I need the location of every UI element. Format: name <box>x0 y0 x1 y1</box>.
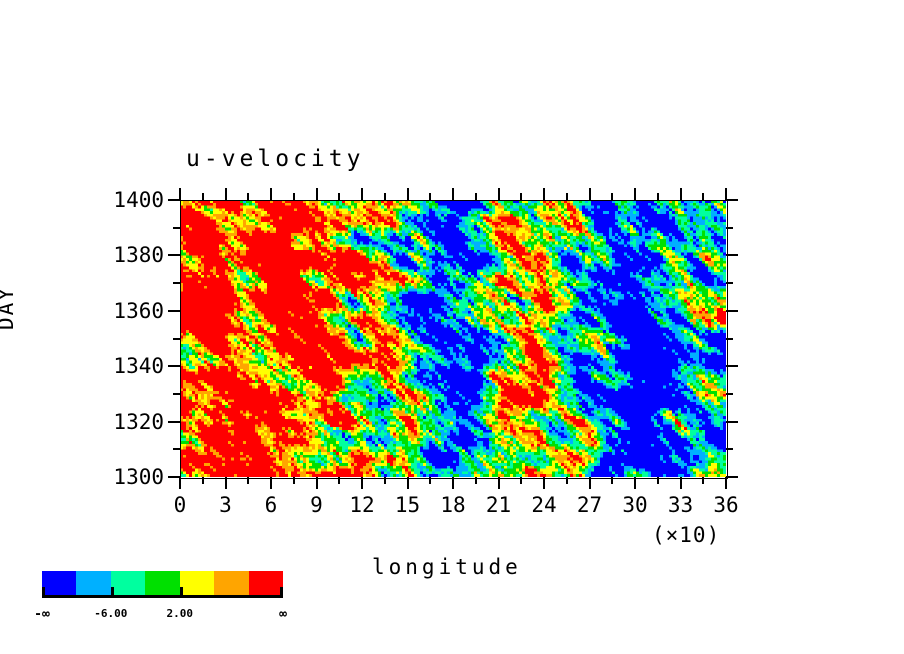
plot-title: u-velocity <box>186 146 364 172</box>
y-tick-major-right <box>726 199 738 201</box>
x-tick-minor-bottom <box>338 477 340 484</box>
x-tick-minor-bottom <box>202 477 204 484</box>
y-tick-label: 1340 <box>96 354 164 378</box>
x-tick-major-top <box>316 188 318 200</box>
x-tick-major-bottom <box>270 477 272 489</box>
colorbar <box>42 571 283 595</box>
y-tick-minor-right <box>726 393 733 395</box>
x-tick-minor-top <box>520 193 522 200</box>
x-tick-label: 12 <box>349 493 374 517</box>
y-tick-minor-right <box>726 338 733 340</box>
x-tick-major-bottom <box>634 477 636 489</box>
x-tick-major-top <box>452 188 454 200</box>
y-tick-major-left <box>168 365 180 367</box>
x-tick-minor-top <box>384 193 386 200</box>
colorbar-label: -∞ <box>34 607 50 622</box>
x-tick-minor-top <box>247 193 249 200</box>
colorbar-swatch-4 <box>180 571 214 595</box>
y-tick-major-left <box>168 421 180 423</box>
x-tick-major-top <box>225 188 227 200</box>
x-tick-major-top <box>589 188 591 200</box>
x-tick-major-bottom <box>225 477 227 489</box>
colorbar-swatch-3 <box>145 571 179 595</box>
x-tick-minor-bottom <box>429 477 431 484</box>
colorbar-label: -6.00 <box>94 607 127 620</box>
y-tick-major-right <box>726 476 738 478</box>
x-tick-major-bottom <box>543 477 545 489</box>
x-tick-minor-top <box>429 193 431 200</box>
y-tick-label: 1320 <box>96 410 164 434</box>
x-tick-label: 33 <box>668 493 693 517</box>
y-tick-major-right <box>726 421 738 423</box>
x-tick-minor-bottom <box>657 477 659 484</box>
y-axis-title: DAY <box>0 286 18 330</box>
y-tick-label: 1360 <box>96 299 164 323</box>
y-tick-minor-right <box>726 282 733 284</box>
y-tick-label: 1400 <box>96 188 164 212</box>
colorbar-baseline <box>42 595 283 598</box>
colorbar-swatch-1 <box>76 571 110 595</box>
y-tick-minor-left <box>173 393 180 395</box>
colorbar-swatch-2 <box>111 571 145 595</box>
x-tick-label: 6 <box>265 493 278 517</box>
x-tick-minor-bottom <box>475 477 477 484</box>
x-tick-major-top <box>634 188 636 200</box>
x-tick-label: 24 <box>531 493 556 517</box>
x-tick-major-bottom <box>680 477 682 489</box>
y-tick-label: 1300 <box>96 465 164 489</box>
x-tick-major-bottom <box>498 477 500 489</box>
x-tick-minor-bottom <box>702 477 704 484</box>
x-tick-minor-top <box>611 193 613 200</box>
x-tick-major-top <box>407 188 409 200</box>
y-tick-minor-right <box>726 227 733 229</box>
colorbar-tick <box>280 587 283 596</box>
heatmap-plot-area <box>180 200 726 477</box>
heatmap-field <box>180 200 726 477</box>
y-tick-minor-left <box>173 448 180 450</box>
x-tick-major-top <box>680 188 682 200</box>
x-tick-major-bottom <box>452 477 454 489</box>
figure-canvas: u-velocity 0369121518212427303336 130013… <box>0 0 904 654</box>
x-tick-label: 30 <box>622 493 647 517</box>
colorbar-swatch-6 <box>249 571 283 595</box>
colorbar-label: 2.00 <box>166 607 193 620</box>
x-tick-major-bottom <box>179 477 181 489</box>
x-tick-minor-top <box>293 193 295 200</box>
x-tick-label: 36 <box>713 493 738 517</box>
x-tick-label: 9 <box>310 493 323 517</box>
x-tick-label: 15 <box>395 493 420 517</box>
x-tick-minor-bottom <box>384 477 386 484</box>
x-tick-minor-bottom <box>520 477 522 484</box>
y-tick-minor-right <box>726 448 733 450</box>
x-tick-minor-top <box>702 193 704 200</box>
x-tick-label: 0 <box>174 493 187 517</box>
x-tick-minor-top <box>657 193 659 200</box>
y-tick-major-left <box>168 199 180 201</box>
x-tick-major-bottom <box>316 477 318 489</box>
colorbar-tick <box>180 587 183 596</box>
y-tick-minor-left <box>173 227 180 229</box>
x-tick-minor-bottom <box>611 477 613 484</box>
y-tick-major-right <box>726 254 738 256</box>
x-tick-label: 3 <box>219 493 232 517</box>
y-tick-minor-left <box>173 338 180 340</box>
x-tick-minor-bottom <box>293 477 295 484</box>
x-tick-major-top <box>270 188 272 200</box>
x-tick-label: 21 <box>486 493 511 517</box>
colorbar-tick <box>111 587 114 596</box>
colorbar-label: ∞ <box>279 607 287 622</box>
y-tick-major-right <box>726 310 738 312</box>
x-axis-multiplier-label: (×10) <box>652 523 720 547</box>
x-tick-minor-bottom <box>566 477 568 484</box>
y-tick-major-left <box>168 310 180 312</box>
y-tick-major-left <box>168 254 180 256</box>
x-tick-major-bottom <box>407 477 409 489</box>
x-tick-minor-top <box>338 193 340 200</box>
colorbar-swatch-5 <box>214 571 248 595</box>
x-tick-major-bottom <box>589 477 591 489</box>
x-tick-minor-top <box>202 193 204 200</box>
x-tick-major-top <box>498 188 500 200</box>
x-tick-minor-bottom <box>247 477 249 484</box>
x-tick-major-top <box>543 188 545 200</box>
x-tick-major-top <box>361 188 363 200</box>
x-axis-title: longitude <box>372 555 522 579</box>
x-tick-label: 27 <box>577 493 602 517</box>
y-tick-label: 1380 <box>96 243 164 267</box>
colorbar-swatch-0 <box>42 571 76 595</box>
x-tick-minor-top <box>475 193 477 200</box>
y-tick-major-left <box>168 476 180 478</box>
x-tick-major-bottom <box>361 477 363 489</box>
y-tick-major-right <box>726 365 738 367</box>
y-tick-minor-left <box>173 282 180 284</box>
x-tick-major-bottom <box>725 477 727 489</box>
x-tick-label: 18 <box>440 493 465 517</box>
x-tick-minor-top <box>566 193 568 200</box>
colorbar-tick <box>42 587 45 596</box>
